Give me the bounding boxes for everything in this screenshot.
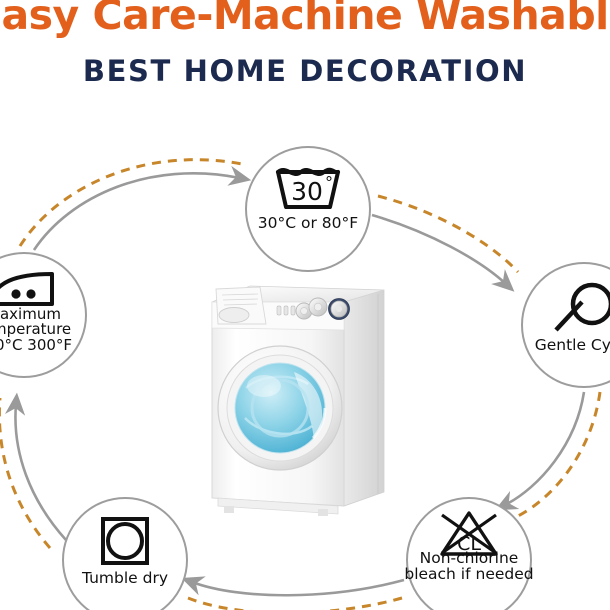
wash-tub-30-icon: 30 °	[271, 162, 345, 210]
step-label-gentle-cycle: Gentle Cycle	[535, 338, 610, 354]
step-label-wash-temperature: 30°C or 80°F	[258, 216, 358, 232]
step-circle-wash-temperature[interactable]: 30 ° 30°C or 80°F	[245, 146, 371, 272]
wash-tub-degree-symbol: °	[325, 173, 333, 192]
iron-two-dots-icon	[0, 266, 62, 310]
step-label-tumble-dry: Tumble dry	[82, 571, 168, 587]
infographic-canvas: Easy Care-Machine Washable BEST HOME DEC…	[0, 0, 610, 610]
gentle-cycle-icon	[552, 282, 610, 336]
step-label-max-iron-temperature: Maximum temperature 150°C 300°F	[0, 307, 89, 353]
step-label-non-chlorine-bleach: Non-chlorine bleach if needed	[404, 551, 534, 583]
washing-machine-image	[198, 268, 394, 516]
tumble-dry-icon	[99, 515, 151, 567]
wash-tub-temp-value: 30	[291, 177, 323, 206]
